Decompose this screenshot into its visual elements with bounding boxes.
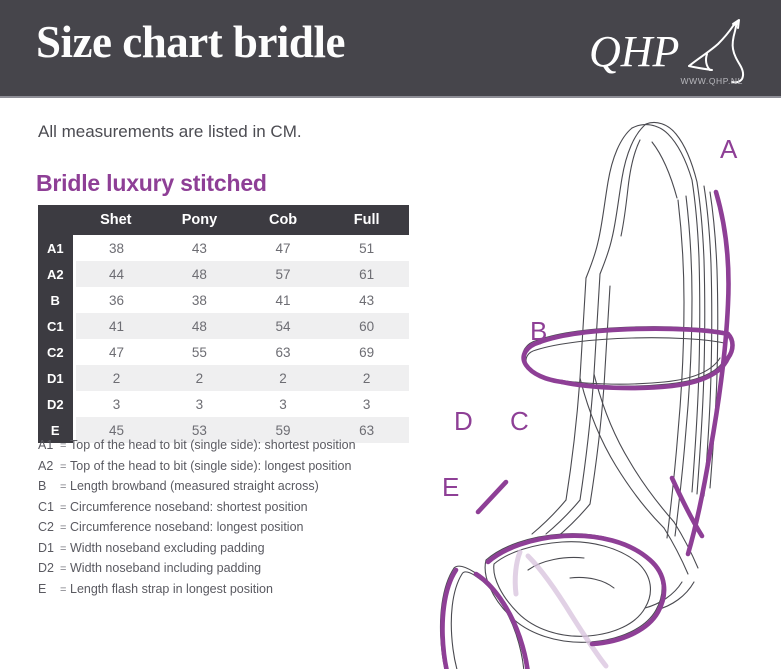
cell-c2-shet: 47: [74, 339, 158, 365]
bridle-diagram: A B C D E: [420, 100, 781, 669]
cell-d2-shet: 3: [74, 391, 158, 417]
marker-line-d: [478, 482, 506, 512]
cell-a1-pony: 43: [158, 235, 242, 261]
cell-c1-full: 60: [325, 313, 409, 339]
legend-equals: =: [60, 481, 70, 493]
legend-key: B: [38, 479, 60, 493]
legend-description: Circumference noseband: shortest positio…: [70, 500, 438, 514]
row-header-b: B: [38, 287, 74, 313]
legend-equals: =: [60, 543, 70, 555]
section-title: Bridle luxury stitched: [36, 170, 267, 197]
table-corner-cell: [38, 205, 74, 235]
cell-b-shet: 36: [74, 287, 158, 313]
legend-item-d2: D2 = Width noseband including padding: [38, 561, 438, 582]
table-row: D2 3 3 3 3: [38, 391, 409, 417]
diagram-label-e: E: [442, 472, 459, 502]
column-header-full: Full: [325, 205, 409, 235]
measurement-markers: [443, 192, 733, 669]
row-header-d2: D2: [38, 391, 74, 417]
legend-item-b: B = Length browband (measured straight a…: [38, 479, 438, 500]
table-row: C1 41 48 54 60: [38, 313, 409, 339]
diagram-label-a: A: [720, 134, 738, 164]
cell-c2-cob: 63: [241, 339, 325, 365]
table-header-row: Shet Pony Cob Full: [38, 205, 409, 235]
table-header: Shet Pony Cob Full: [38, 205, 409, 235]
cell-d1-full: 2: [325, 365, 409, 391]
measurement-note: All measurements are listed in CM.: [38, 122, 302, 142]
marker-line-a: [688, 192, 729, 554]
legend-key: A2: [38, 459, 60, 473]
cell-d2-pony: 3: [158, 391, 242, 417]
diagram-label-d: D: [454, 406, 473, 436]
legend-description: Length flash strap in longest position: [70, 582, 438, 596]
cell-d1-shet: 2: [74, 365, 158, 391]
legend-item-a1: A1 = Top of the head to bit (single side…: [38, 438, 438, 459]
cell-a1-cob: 47: [241, 235, 325, 261]
cell-a1-shet: 38: [74, 235, 158, 261]
cell-a2-full: 61: [325, 261, 409, 287]
legend-key: C1: [38, 500, 60, 514]
legend-description: Top of the head to bit (single side): lo…: [70, 459, 438, 473]
cell-d2-full: 3: [325, 391, 409, 417]
legend-equals: =: [60, 461, 70, 473]
cell-b-full: 43: [325, 287, 409, 313]
cell-a2-cob: 57: [241, 261, 325, 287]
legend-key: D2: [38, 561, 60, 575]
diagram-label-b: B: [530, 316, 547, 346]
legend-equals: =: [60, 563, 70, 575]
cell-b-pony: 38: [158, 287, 242, 313]
row-header-c1: C1: [38, 313, 74, 339]
legend-equals: =: [60, 440, 70, 452]
table-row: A1 38 43 47 51: [38, 235, 409, 261]
logo-url-text: WWW.QHP.NL: [680, 76, 743, 86]
table-row: C2 47 55 63 69: [38, 339, 409, 365]
legend-key: C2: [38, 520, 60, 534]
legend-description: Circumference noseband: longest position: [70, 520, 438, 534]
marker-line-b-right: [728, 334, 733, 358]
column-header-shet: Shet: [74, 205, 158, 235]
horse-head-icon: [689, 20, 743, 82]
column-header-cob: Cob: [241, 205, 325, 235]
column-header-pony: Pony: [158, 205, 242, 235]
measurement-legend: A1 = Top of the head to bit (single side…: [38, 438, 438, 602]
table-body: A1 38 43 47 51 A2 44 48 57 61 B 36 38 41…: [38, 235, 409, 443]
cell-d1-cob: 2: [241, 365, 325, 391]
legend-item-d1: D1 = Width noseband excluding padding: [38, 541, 438, 562]
bridle-illustration: A B C D E: [420, 100, 781, 669]
cell-c1-cob: 54: [241, 313, 325, 339]
diagram-label-c: C: [510, 406, 529, 436]
legend-item-a2: A2 = Top of the head to bit (single side…: [38, 459, 438, 480]
row-header-c2: C2: [38, 339, 74, 365]
legend-item-c2: C2 = Circumference noseband: longest pos…: [38, 520, 438, 541]
row-header-a2: A2: [38, 261, 74, 287]
row-header-a1: A1: [38, 235, 74, 261]
legend-equals: =: [60, 502, 70, 514]
legend-item-e: E = Length flash strap in longest positi…: [38, 582, 438, 603]
row-header-d1: D1: [38, 365, 74, 391]
cell-c2-pony: 55: [158, 339, 242, 365]
table-row: A2 44 48 57 61: [38, 261, 409, 287]
legend-key: A1: [38, 438, 60, 452]
legend-key: E: [38, 582, 60, 596]
cell-d2-cob: 3: [241, 391, 325, 417]
legend-equals: =: [60, 522, 70, 534]
cell-c2-full: 69: [325, 339, 409, 365]
table-row: B 36 38 41 43: [38, 287, 409, 313]
bridle-outline-strokes: [441, 122, 727, 669]
page-title: Size chart bridle: [36, 16, 345, 68]
cell-d1-pony: 2: [158, 365, 242, 391]
logo-wordmark: QHP: [589, 27, 679, 76]
legend-description: Width noseband excluding padding: [70, 541, 438, 555]
cell-c1-shet: 41: [74, 313, 158, 339]
legend-item-c1: C1 = Circumference noseband: shortest po…: [38, 500, 438, 521]
page-header-band: Size chart bridle QHP WWW.QHP.NL: [0, 0, 781, 98]
legend-equals: =: [60, 584, 70, 596]
cell-b-cob: 41: [241, 287, 325, 313]
cell-c1-pony: 48: [158, 313, 242, 339]
legend-description: Width noseband including padding: [70, 561, 438, 575]
cell-a2-shet: 44: [74, 261, 158, 287]
cell-a1-full: 51: [325, 235, 409, 261]
size-chart-table: Shet Pony Cob Full A1 38 43 47 51 A2 44 …: [38, 205, 410, 443]
cell-a2-pony: 48: [158, 261, 242, 287]
legend-key: D1: [38, 541, 60, 555]
table-row: D1 2 2 2 2: [38, 365, 409, 391]
legend-description: Length browband (measured straight acros…: [70, 479, 438, 493]
legend-description: Top of the head to bit (single side): sh…: [70, 438, 438, 452]
qhp-logo: QHP WWW.QHP.NL: [581, 18, 761, 88]
